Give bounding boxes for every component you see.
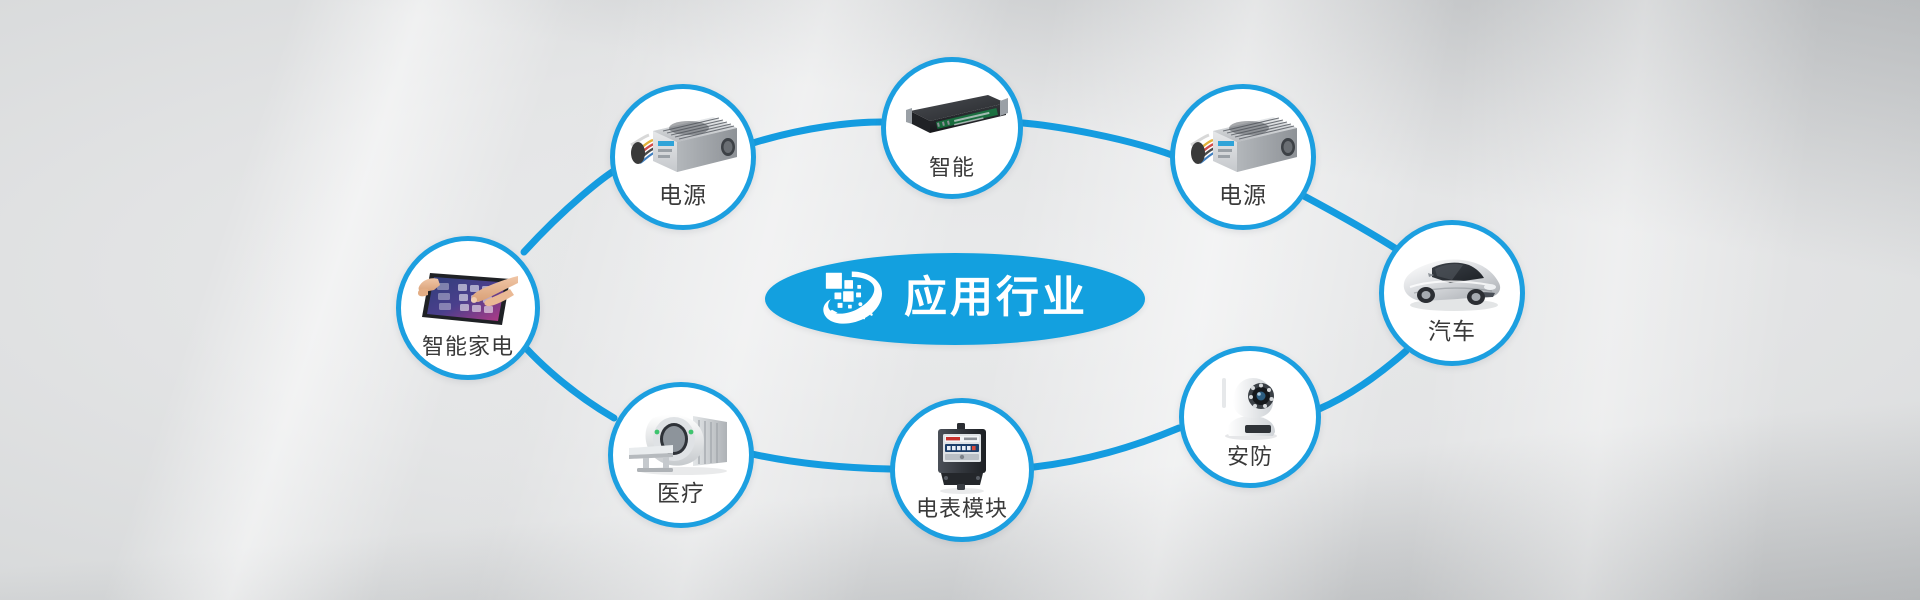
node-label: 智能家电: [422, 337, 514, 359]
application-industries-banner: 应用行业: [0, 0, 1920, 600]
connector-security-meter: [1034, 428, 1179, 467]
node-power-left[interactable]: 电源: [610, 84, 756, 230]
node-security[interactable]: 安防: [1179, 346, 1321, 488]
rack-server-icon: [886, 74, 1018, 160]
power-supply-icon: [615, 101, 751, 187]
node-label: 智能: [929, 158, 975, 180]
node-medical[interactable]: 医疗: [608, 382, 754, 528]
node-power-right[interactable]: 电源: [1170, 84, 1316, 230]
node-smart-home[interactable]: 智能家电: [396, 236, 540, 380]
center-pill: 应用行业: [765, 253, 1145, 345]
node-label: 电表模块: [916, 499, 1008, 521]
orbit-swoosh-pixel-logo-icon: [822, 269, 884, 327]
connector-smart-powerright: [1023, 123, 1172, 155]
node-automotive[interactable]: 汽车: [1379, 220, 1525, 366]
sports-car-icon: [1384, 237, 1520, 323]
connector-auto-security: [1319, 351, 1406, 409]
node-label: 医疗: [657, 483, 705, 506]
node-label: 电源: [1219, 185, 1267, 208]
electric-meter-icon: [895, 415, 1029, 501]
center-title: 应用行业: [904, 277, 1088, 320]
mri-scanner-icon: [613, 399, 749, 485]
node-label: 安防: [1227, 447, 1273, 469]
connector-meter-medical: [752, 454, 890, 469]
connector-powerright-auto: [1304, 196, 1401, 252]
node-meter[interactable]: 电表模块: [890, 398, 1034, 542]
node-label: 汽车: [1428, 321, 1476, 344]
connector-smarthome-powerleft: [524, 169, 617, 252]
connector-powerleft-smart: [753, 122, 881, 143]
node-smart[interactable]: 智能: [881, 57, 1023, 199]
tablet-touch-icon: [401, 253, 535, 339]
power-supply-icon: [1175, 101, 1311, 187]
ip-camera-icon: [1184, 363, 1316, 449]
node-label: 电源: [659, 185, 707, 208]
